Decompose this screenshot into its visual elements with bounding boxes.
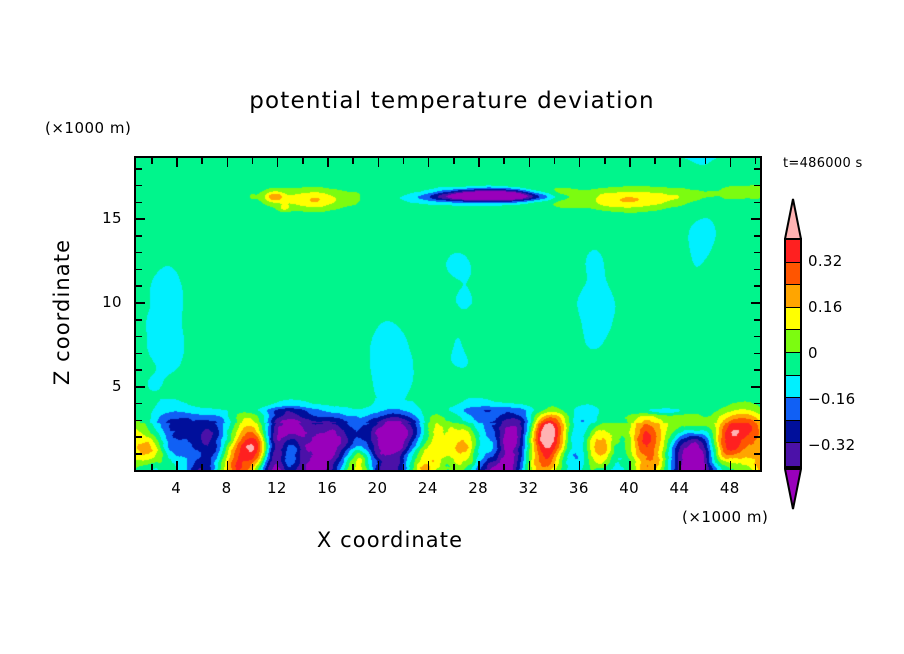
axis-tick [751,302,760,304]
x-tick-label-4: 4 [156,479,196,497]
colorbar-label-2: 0 [808,344,818,362]
x-tick-label-44: 44 [659,479,699,497]
colorbar-under-arrow-icon [784,468,802,510]
axis-tick [378,461,380,470]
axis-tick [754,453,760,455]
axis-tick [754,202,760,204]
axis-tick [136,235,142,237]
axis-tick [554,464,556,470]
axis-tick [136,319,142,321]
axis-tick [529,158,531,167]
axis-tick [629,158,631,167]
axis-tick [751,218,760,220]
x-tick-label-32: 32 [509,479,549,497]
y-tick-label-15: 15 [82,209,122,227]
axis-tick [629,461,631,470]
colorbar-over-arrow-icon [784,198,802,240]
axis-tick [754,403,760,405]
colorbar-band-8 [786,421,800,444]
x-tick-label-28: 28 [458,479,498,497]
axis-tick [754,235,760,237]
axis-tick [730,158,732,167]
y-tick-label-5: 5 [82,377,122,395]
axis-tick [227,158,229,167]
axis-tick [754,353,760,355]
axis-tick [136,403,142,405]
axis-tick [679,461,681,470]
axis-tick [705,464,707,470]
axis-tick [754,185,760,187]
axis-tick [579,461,581,470]
x-tick-label-40: 40 [609,479,649,497]
x-tick-label-20: 20 [358,479,398,497]
colorbar-band-5 [786,353,800,376]
axis-tick [604,464,606,470]
axis-tick [302,158,304,164]
axis-tick [136,353,142,355]
colorbar-band-6 [786,376,800,399]
axis-tick [227,461,229,470]
axis-tick [754,470,760,472]
x-tick-label-36: 36 [559,479,599,497]
axis-tick [403,464,405,470]
axis-tick [730,461,732,470]
axis-tick [136,336,142,338]
axis-tick [302,464,304,470]
x-axis-title: X coordinate [0,528,780,552]
axis-tick [136,168,142,170]
axis-tick [136,202,142,204]
axis-tick [136,252,142,254]
axis-tick [679,158,681,167]
colorbar-band-3 [786,308,800,331]
x-tick-label-24: 24 [408,479,448,497]
axis-tick [151,464,153,470]
contour-field [136,158,760,470]
axis-tick [654,158,656,164]
axis-tick [453,158,455,164]
axis-tick [579,158,581,167]
axis-tick [277,158,279,167]
axis-tick [654,464,656,470]
axis-tick [529,461,531,470]
x-axis-unit-label: (×1000 m) [682,508,768,526]
axis-tick [252,464,254,470]
axis-tick [378,158,380,167]
x-tick-label-48: 48 [710,479,750,497]
colorbar-band-1 [786,263,800,286]
axis-tick [428,158,430,167]
colorbar-band-7 [786,398,800,421]
axis-tick [201,158,203,164]
colorbar: 0.320.160−0.16−0.32 [778,198,808,508]
axis-tick [751,386,760,388]
axis-tick [754,269,760,271]
axis-tick [352,464,354,470]
axis-tick [754,436,760,438]
timestamp-annotation: t=486000 s [783,156,863,171]
axis-tick [755,158,757,164]
axis-tick [136,302,145,304]
axis-tick [754,336,760,338]
axis-tick [478,461,480,470]
axis-tick [705,158,707,164]
axis-tick [136,436,142,438]
axis-tick [136,453,142,455]
axis-tick [252,158,254,164]
axis-tick [136,420,142,422]
axis-tick [453,464,455,470]
axis-tick [754,168,760,170]
axis-tick [201,464,203,470]
axis-tick [503,464,505,470]
axis-tick [327,461,329,470]
axis-tick [136,369,142,371]
colorbar-label-4: −0.32 [808,436,855,454]
axis-tick [327,158,329,167]
colorbar-band-9 [786,443,800,466]
x-tick-label-12: 12 [257,479,297,497]
axis-tick [136,269,142,271]
axis-tick [136,285,142,287]
axis-tick [136,470,142,472]
axis-tick [754,285,760,287]
colorbar-bands [784,238,802,468]
axis-tick [136,386,145,388]
axis-tick [554,158,556,164]
contour-plot-frame [134,156,762,472]
y-tick-label-10: 10 [82,293,122,311]
colorbar-band-0 [786,240,800,263]
axis-tick [478,158,480,167]
axis-tick [352,158,354,164]
axis-tick [428,461,430,470]
axis-tick [754,369,760,371]
axis-tick [403,158,405,164]
axis-tick [176,158,178,167]
colorbar-label-3: −0.16 [808,390,855,408]
page-title: potential temperature deviation [0,88,904,114]
axis-tick [136,218,145,220]
colorbar-band-4 [786,330,800,353]
axis-tick [151,158,153,164]
colorbar-label-1: 0.16 [808,298,843,316]
axis-tick [136,185,142,187]
axis-tick [176,461,178,470]
axis-tick [754,319,760,321]
colorbar-label-0: 0.32 [808,252,843,270]
axis-tick [604,158,606,164]
y-axis-title: Z coordinate [50,192,74,432]
x-tick-label-8: 8 [207,479,247,497]
x-tick-label-16: 16 [307,479,347,497]
axis-tick [754,252,760,254]
axis-tick [754,420,760,422]
axis-tick [503,158,505,164]
axis-tick [277,461,279,470]
y-axis-unit-label: (×1000 m) [45,119,131,137]
colorbar-band-2 [786,285,800,308]
